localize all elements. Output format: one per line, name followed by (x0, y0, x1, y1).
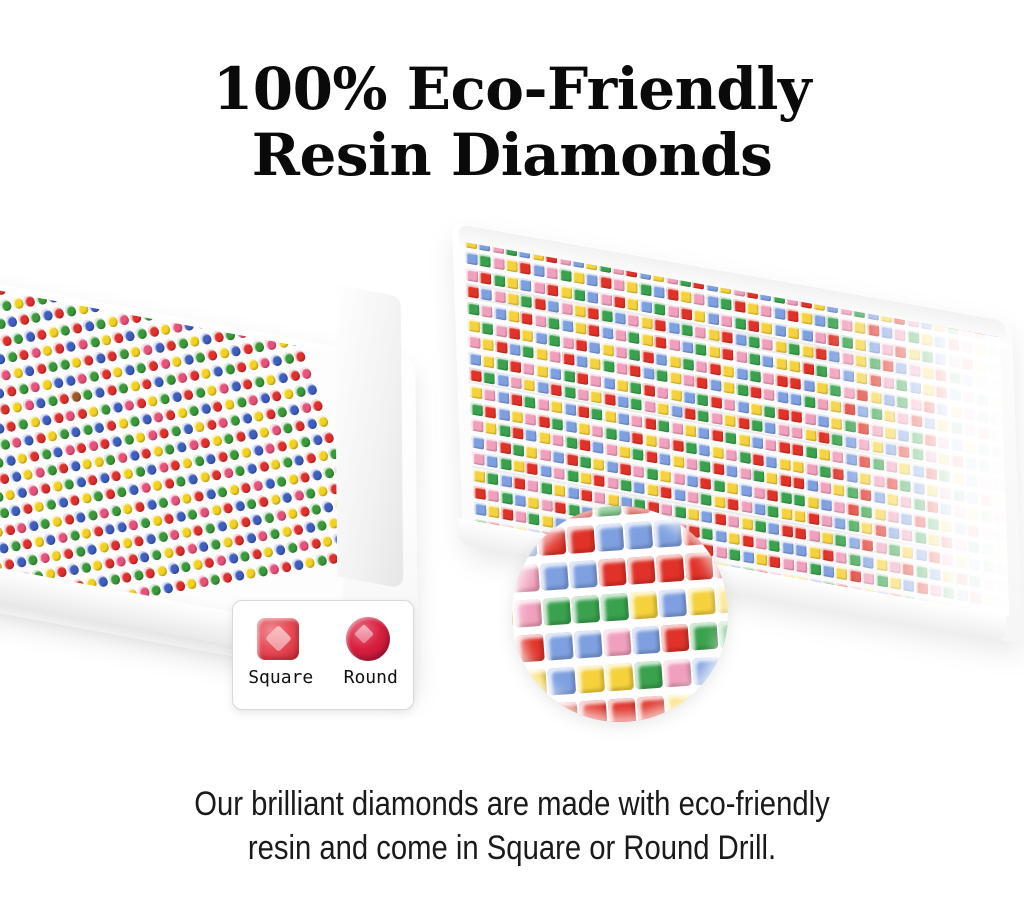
drill-bead (749, 385, 761, 399)
drill-bead (708, 361, 720, 375)
drill-bead (657, 418, 669, 432)
drill-bead (680, 323, 692, 337)
drill-bead (66, 563, 80, 576)
drill-bead (484, 404, 496, 418)
drill-bead (98, 402, 112, 415)
drill-bead (240, 308, 254, 321)
drill-bead (592, 457, 604, 471)
drill-bead (709, 394, 721, 408)
drill-bead (577, 404, 589, 418)
drill-bead (2, 488, 16, 501)
drill-bead (270, 285, 284, 298)
drill-bead (788, 359, 800, 373)
drill-bead (505, 259, 517, 273)
drill-bead (708, 344, 720, 358)
drill-bead (661, 624, 690, 653)
drill-bead (172, 579, 186, 592)
drill-bead (132, 500, 146, 513)
drill-bead (516, 634, 545, 663)
drill-bead (238, 481, 252, 494)
drill-bead (714, 550, 728, 579)
drill-bead (75, 337, 89, 350)
drill-bead (197, 505, 211, 518)
drill-bead (208, 538, 222, 551)
drill-bead (32, 466, 46, 479)
drill-bead (121, 398, 135, 411)
drill-bead (23, 295, 37, 308)
drill-bead (179, 491, 193, 504)
drill-bead (682, 517, 711, 546)
drill-bead (473, 485, 485, 499)
drill-bead (85, 473, 99, 486)
drill-bead (565, 435, 577, 449)
drill-bead (539, 464, 551, 478)
drill-bead (537, 414, 549, 428)
drill-bead (738, 449, 750, 463)
drill-bead (220, 501, 234, 514)
drill-bead (67, 528, 81, 541)
drill-bead (249, 513, 263, 526)
drill-bead (203, 452, 217, 465)
drill-bead (684, 440, 696, 454)
drill-bead (549, 383, 561, 397)
drill-bead (774, 339, 786, 353)
drill-bead (21, 433, 35, 446)
drill-bead (723, 690, 728, 719)
drill-bead (217, 312, 231, 325)
drill-bead (52, 274, 66, 285)
drill-bead (522, 344, 534, 358)
drill-bead (207, 572, 221, 585)
drill-bead (593, 506, 622, 517)
drill-bead (240, 377, 254, 390)
drill-bead (566, 485, 578, 499)
drill-bead (126, 518, 140, 531)
drill-bead (613, 294, 625, 308)
drill-bead (93, 282, 107, 295)
drill-bead (711, 428, 723, 442)
drill-bead (472, 452, 484, 466)
drill-bead (670, 421, 682, 435)
drill-bead (172, 544, 186, 557)
drill-bead (25, 553, 39, 566)
drill-bead (176, 274, 190, 280)
drill-bead (603, 628, 632, 657)
magnified-square-drill-rows (512, 506, 728, 722)
drill-bead (760, 304, 772, 318)
drill-bead (552, 466, 564, 480)
drill-bead (38, 482, 52, 495)
drill-bead (239, 446, 253, 459)
drill-bead (721, 655, 728, 684)
drill-bead (512, 564, 540, 593)
drill-bead (58, 323, 72, 336)
drill-bead (765, 454, 777, 468)
drill-bead (285, 507, 299, 520)
drill-bead (766, 487, 778, 501)
drill-bead (509, 375, 521, 389)
drill-bead (126, 483, 140, 496)
drill-bead (592, 473, 604, 487)
drill-bead (725, 447, 737, 461)
drill-bead (640, 299, 652, 313)
drill-bead (694, 342, 706, 356)
drill-bead (719, 297, 731, 311)
drill-bead (561, 335, 573, 349)
drill-bead (262, 442, 276, 455)
drill-bead (499, 473, 511, 487)
drill-bead (573, 304, 585, 318)
drill-bead (577, 421, 589, 435)
drill-bead (542, 597, 571, 626)
drill-bead (699, 476, 711, 490)
drill-bead (123, 294, 137, 307)
drill-bead (104, 349, 118, 362)
drill-bead (709, 378, 721, 392)
drill-bead (586, 273, 598, 287)
drill-bead (779, 473, 791, 487)
drill-bead (299, 366, 313, 379)
drill-bead (496, 373, 508, 387)
drill-bead (697, 409, 709, 423)
drill-bead (641, 349, 653, 363)
drill-bead (695, 375, 707, 389)
drill-bead (244, 462, 258, 475)
drill-bead (229, 275, 243, 288)
drill-bead (485, 438, 497, 452)
drill-bead (563, 385, 575, 399)
drill-bead (571, 595, 600, 624)
drill-bead (576, 665, 605, 694)
drill-bead (710, 411, 722, 425)
drill-bead (163, 339, 177, 352)
drill-bead (627, 556, 656, 585)
drill-bead (298, 435, 312, 448)
drill-bead (63, 339, 77, 352)
drill-bead (483, 387, 495, 401)
drill-bead (537, 397, 549, 411)
drill-bead (160, 581, 174, 594)
drill-bead (253, 274, 267, 284)
drill-bead (532, 263, 544, 277)
drill-bead (548, 349, 560, 363)
drill-bead (698, 442, 710, 456)
drill-bead (707, 328, 719, 342)
drill-bead (741, 550, 753, 564)
drill-bead (33, 396, 47, 409)
drill-bead (110, 365, 124, 378)
drill-bead (765, 471, 777, 485)
drill-bead (162, 408, 176, 421)
drill-bead (122, 329, 136, 342)
drill-bead (752, 468, 764, 482)
drill-bead (654, 335, 666, 349)
drill-bead (252, 306, 266, 319)
drill-bead (513, 492, 525, 506)
drill-bead (686, 473, 698, 487)
drill-bead (727, 530, 739, 544)
drill-bead (5, 315, 19, 328)
drill-bead (545, 266, 557, 280)
drill-bead (522, 361, 534, 375)
drill-bead (495, 356, 507, 370)
drill-bead (725, 464, 737, 478)
drill-bead (182, 284, 196, 297)
drill-bead (8, 504, 22, 517)
drill-bead (535, 364, 547, 378)
drill-bead (244, 497, 258, 510)
drill-bead (76, 274, 90, 281)
drill-bead (67, 494, 81, 507)
drill-bead (180, 457, 194, 470)
drill-bead (15, 451, 29, 464)
drill-bead (500, 490, 512, 504)
round-drill-icon (346, 617, 390, 661)
drill-bead (510, 392, 522, 406)
drill-bead (252, 340, 266, 353)
drill-bead (61, 512, 75, 525)
drill-bead (197, 436, 211, 449)
drill-bead (117, 312, 131, 325)
drill-bead (672, 471, 684, 485)
drill-bead (44, 429, 58, 442)
drill-bead (228, 344, 242, 357)
drill-bead (616, 394, 628, 408)
drill-bead (175, 371, 189, 384)
drill-bead (292, 419, 306, 432)
drill-bead (804, 428, 816, 442)
drill-bead (564, 418, 576, 432)
drill-bead (807, 528, 819, 542)
drill-bead (203, 487, 217, 500)
drill-bead (144, 463, 158, 476)
drill-bead (103, 418, 117, 431)
drill-bead (694, 692, 723, 721)
drill-bead (642, 366, 654, 380)
drill-bead (232, 533, 246, 546)
drill-bead (672, 454, 684, 468)
drill-bead (605, 663, 634, 692)
drill-bead (199, 332, 213, 345)
drill-bead (267, 527, 281, 540)
drill-bead (764, 437, 776, 451)
drill-bead (520, 294, 532, 308)
drill-bead (128, 345, 142, 358)
drill-bead (469, 352, 481, 366)
drill-bead (579, 454, 591, 468)
drill-bead (507, 309, 519, 323)
drill-bead (808, 561, 820, 575)
drill-bead (793, 509, 805, 523)
drill-bead (690, 622, 719, 651)
drill-bead (145, 394, 159, 407)
drill-bead (790, 409, 802, 423)
drill-bead (540, 562, 569, 591)
drill-bead (473, 469, 485, 483)
drill-bead (628, 347, 640, 361)
drill-bead (670, 404, 682, 418)
drill-bead (801, 344, 813, 358)
drill-bead (167, 528, 181, 541)
drill-bead (634, 661, 663, 690)
drill-bead (591, 423, 603, 437)
drill-bead (282, 318, 296, 331)
drill-bead (293, 350, 307, 363)
drill-bead (0, 368, 12, 381)
drill-bead (580, 488, 592, 502)
drill-bead (99, 333, 113, 346)
drill-bead (601, 325, 613, 339)
drill-bead (32, 431, 46, 444)
drill-bead (781, 540, 793, 554)
drill-bead (602, 359, 614, 373)
drill-bead (630, 414, 642, 428)
drill-bead (685, 552, 714, 581)
drill-bead (574, 630, 603, 659)
drill-bead (645, 466, 657, 480)
drill-bead (790, 425, 802, 439)
drill-bead (792, 476, 804, 490)
drill-bead (575, 354, 587, 368)
drill-bead (538, 527, 567, 556)
drill-bead (479, 270, 491, 284)
drill-bead (521, 704, 550, 722)
drill-bead (219, 570, 233, 583)
drill-bead (69, 321, 83, 334)
drill-bead (296, 539, 310, 552)
drill-bead (113, 555, 127, 568)
drill-bead (789, 375, 801, 389)
drill-bead (469, 368, 481, 382)
drill-bead (605, 442, 617, 456)
drill-bead (205, 349, 219, 362)
drill-bead (603, 392, 615, 406)
drill-bead (545, 632, 574, 661)
drill-bead (467, 302, 479, 316)
drill-bead (151, 410, 165, 423)
drill-bead (655, 368, 667, 382)
drill-bead (684, 423, 696, 437)
drill-bead (40, 274, 54, 287)
drill-bead (747, 318, 759, 332)
drill-bead (150, 479, 164, 492)
drill-bead (795, 559, 807, 573)
drill-bead (724, 430, 736, 444)
drill-bead (569, 560, 598, 589)
square-drill-icon (257, 618, 299, 660)
drill-bead (598, 558, 627, 587)
drill-bead (86, 370, 100, 383)
drill-bead (205, 279, 219, 292)
drill-bead (241, 274, 255, 286)
drill-bead (659, 485, 671, 499)
drill-bead (64, 274, 78, 283)
drill-bead (654, 318, 666, 332)
drill-bead (151, 375, 165, 388)
drill-bead (802, 378, 814, 392)
drill-bead (656, 385, 668, 399)
drill-bead (37, 516, 51, 529)
drill-bead (637, 696, 666, 722)
drill-bead (791, 459, 803, 473)
drill-bead (43, 498, 57, 511)
drill-bead (247, 289, 261, 302)
drill-bead (62, 408, 76, 421)
drill-bead (174, 440, 188, 453)
drill-bead (706, 294, 718, 308)
drill-bead (700, 492, 712, 506)
drill-bead (518, 669, 547, 698)
drill-bead (618, 428, 630, 442)
drill-bead (629, 591, 658, 620)
drill-bead (578, 437, 590, 451)
drill-bead (782, 557, 794, 571)
drill-bead (81, 353, 95, 366)
drill-bead (43, 533, 57, 546)
drill-bead (605, 459, 617, 473)
drill-bead (222, 397, 236, 410)
drill-bead (280, 421, 294, 434)
drill-bead (789, 392, 801, 406)
drill-bead (776, 406, 788, 420)
drill-bead (736, 382, 748, 396)
drill-bead (257, 426, 271, 439)
drill-bead (506, 292, 518, 306)
drill-bead (574, 337, 586, 351)
drill-bead (178, 560, 192, 573)
drill-bead (188, 274, 202, 278)
drill-bead (39, 413, 53, 426)
drill-bead (559, 285, 571, 299)
drill-bead (467, 318, 479, 332)
drill-bead (497, 407, 509, 421)
drill-bead (279, 490, 293, 503)
drill-bead (734, 332, 746, 346)
drill-bead (468, 335, 480, 349)
drill-bead (520, 311, 532, 325)
drill-bead (534, 313, 546, 327)
drill-bead (767, 521, 779, 535)
drill-bead (186, 404, 200, 417)
drill-bead (510, 409, 522, 423)
drill-bead (211, 296, 225, 309)
drill-bead (512, 671, 518, 700)
drill-bead (751, 452, 763, 466)
drill-bead (498, 440, 510, 454)
drill-bead (137, 516, 151, 529)
drill-bead (807, 511, 819, 525)
drill-bead (233, 430, 247, 443)
drill-bead (589, 373, 601, 387)
caption-line-1: Our brilliant diamonds are made with eco… (72, 782, 953, 826)
drill-bead (641, 332, 653, 346)
drill-bead (590, 390, 602, 404)
drill-bead (496, 390, 508, 404)
drill-bead (69, 356, 83, 369)
page-title: 100% Eco-Friendly Resin Diamonds (0, 56, 1024, 188)
drill-bead (668, 354, 680, 368)
drill-bead (210, 399, 224, 412)
drill-bead (682, 373, 694, 387)
drill-bead (51, 376, 65, 389)
drill-bead (237, 550, 251, 563)
drill-bead (251, 409, 265, 422)
drill-bead (800, 328, 812, 342)
drill-bead (534, 330, 546, 344)
drill-bead (587, 306, 599, 320)
drill-bead (567, 525, 596, 554)
drill-bead (726, 497, 738, 511)
